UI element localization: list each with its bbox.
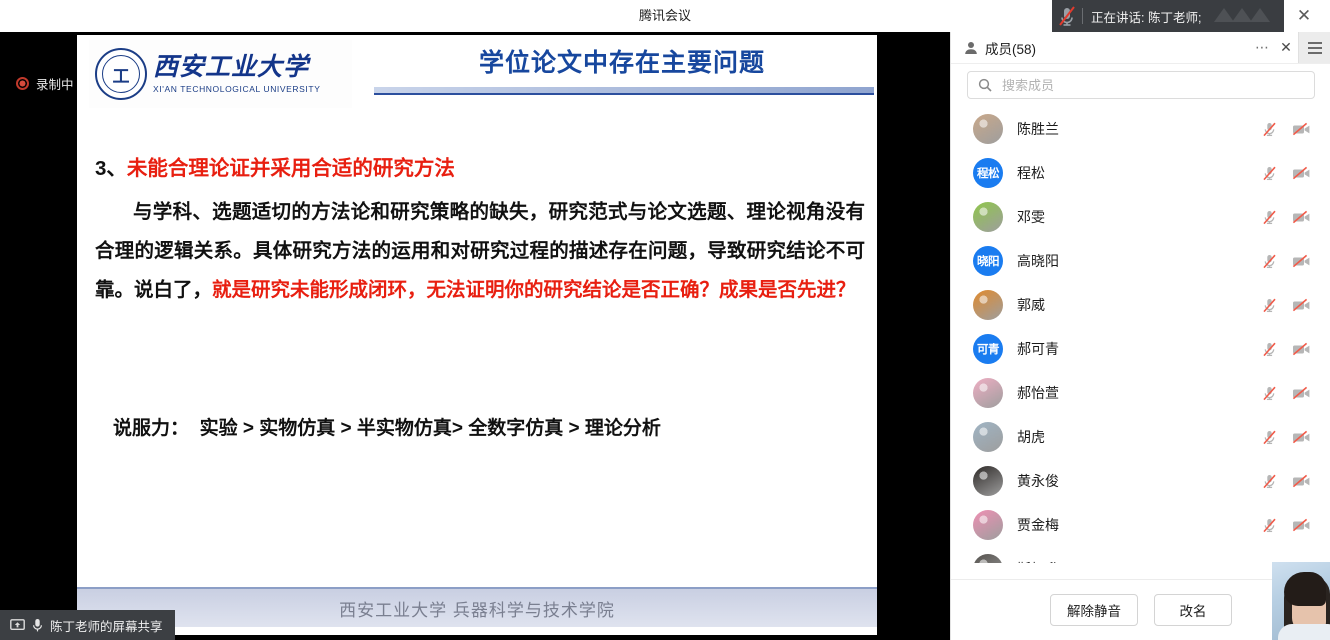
screen-share-label: 陈丁老师的屏幕共享: [50, 616, 163, 635]
screen-share-tag: 陈丁老师的屏幕共享: [0, 610, 175, 640]
avatar: 可青: [973, 334, 1003, 364]
hamburger-icon[interactable]: [1298, 32, 1330, 63]
chain-text: 实验 > 实物仿真 > 半实物仿真> 全数字仿真 > 理论分析: [200, 418, 661, 439]
participant-row[interactable]: 晓阳高晓阳: [951, 239, 1330, 283]
participant-name: 高晓阳: [1017, 251, 1261, 271]
logo-chinese-name: 西安工业大学: [153, 54, 352, 80]
camera-muted-icon[interactable]: [1292, 385, 1309, 402]
avatar: [973, 510, 1003, 540]
participant-status-icons: [1261, 297, 1330, 314]
camera-muted-icon[interactable]: [1292, 253, 1309, 270]
chain-label: 说服力：: [113, 418, 189, 439]
participant-status-icons: [1261, 121, 1330, 138]
participant-name: 邓雯: [1017, 207, 1261, 227]
university-logo: 工 西安工业大学 XI'AN TECHNOLOGICAL UNIVERSITY: [89, 40, 352, 108]
participant-name: 贾金梅: [1017, 515, 1261, 535]
search-icon: [978, 78, 992, 92]
avatar: [973, 466, 1003, 496]
participant-status-icons: [1261, 473, 1330, 490]
speaker-divider: [1082, 8, 1083, 24]
participant-status-icons: [1261, 517, 1330, 534]
mic-muted-icon[interactable]: [1261, 253, 1278, 270]
camera-muted-icon[interactable]: [1292, 341, 1309, 358]
participants-list[interactable]: 陈胜兰程松程松邓雯晓阳高晓阳郭威可青郝可青郝怡萱胡虎黄永俊贾金梅靳极升: [951, 107, 1330, 563]
mic-muted-icon[interactable]: [1261, 429, 1278, 446]
recording-indicator: 录制中: [16, 73, 74, 93]
self-video-thumbnail[interactable]: [1272, 562, 1330, 640]
active-speaker-bar: 正在讲话: 陈丁老师;: [1052, 0, 1284, 32]
recording-label: 录制中: [36, 74, 74, 93]
rename-button[interactable]: 改名: [1154, 594, 1232, 626]
slide-point-heading: 3、未能合理论证并采用合适的研究方法: [95, 151, 455, 181]
participants-search-wrap: [951, 63, 1330, 107]
camera-muted-icon[interactable]: [1292, 165, 1309, 182]
participant-name: 胡虎: [1017, 427, 1261, 447]
participant-status-icons: [1261, 165, 1330, 182]
slide-title: 学位论文中存在主要问题: [372, 43, 872, 79]
participants-panel: 成员(58) ⋯ ✕ 陈胜兰程松程松邓雯晓阳高晓阳郭威可青郝可青郝怡萱胡虎黄永俊…: [950, 32, 1330, 640]
participant-name: 黄永俊: [1017, 471, 1261, 491]
participant-row[interactable]: 郝怡萱: [951, 371, 1330, 415]
participant-status-icons: [1261, 209, 1330, 226]
point-number: 3、: [95, 157, 127, 180]
mic-icon: [32, 618, 43, 633]
participant-name: 程松: [1017, 163, 1261, 183]
camera-muted-icon[interactable]: [1292, 297, 1309, 314]
meeting-window: 腾讯会议 ✕ 正在讲话: 陈丁老师; 录制中: [0, 0, 1330, 640]
panel-more-button[interactable]: ⋯: [1250, 39, 1274, 56]
slide-header: 工 西安工业大学 XI'AN TECHNOLOGICAL UNIVERSITY …: [77, 35, 877, 110]
mic-muted-icon[interactable]: [1261, 385, 1278, 402]
avatar: 晓阳: [973, 246, 1003, 276]
participants-panel-header: 成员(58) ⋯ ✕: [951, 32, 1330, 64]
participants-count-label: 成员(58): [985, 38, 1036, 58]
self-video-shoulder: [1278, 624, 1330, 640]
logo-text: 西安工业大学 XI'AN TECHNOLOGICAL UNIVERSITY: [153, 54, 352, 93]
camera-muted-icon[interactable]: [1292, 121, 1309, 138]
participant-status-icons: [1261, 429, 1330, 446]
participant-row[interactable]: 可青郝可青: [951, 327, 1330, 371]
unmute-button[interactable]: 解除静音: [1050, 594, 1138, 626]
self-video-hair: [1284, 572, 1326, 606]
participant-name: 郭威: [1017, 295, 1261, 315]
participant-status-icons: [1261, 385, 1330, 402]
participant-row[interactable]: 陈胜兰: [951, 107, 1330, 151]
slide-persuasiveness-chain: 说服力： 实验 > 实物仿真 > 半实物仿真> 全数字仿真 > 理论分析: [113, 413, 661, 440]
avatar: [973, 290, 1003, 320]
avatar: 程松: [973, 158, 1003, 188]
participant-row[interactable]: 黄永俊: [951, 459, 1330, 503]
mic-muted-icon[interactable]: [1261, 517, 1278, 534]
camera-muted-icon[interactable]: [1292, 473, 1309, 490]
participant-name: 陈胜兰: [1017, 119, 1261, 139]
slide-body: 3、未能合理论证并采用合适的研究方法 与学科、选题适切的方法论和研究策略的缺失，…: [77, 113, 877, 583]
avatar: [973, 422, 1003, 452]
slide-paragraph: 与学科、选题适切的方法论和研究策略的缺失，研究范式与论文选题、理论视角没有合理的…: [95, 193, 865, 310]
mic-muted-icon[interactable]: [1261, 341, 1278, 358]
participant-row[interactable]: 胡虎: [951, 415, 1330, 459]
person-icon: [964, 41, 978, 55]
title-rule-thin: [374, 93, 874, 95]
slide-footer: 西安工业大学 兵器科学与技术学院: [77, 587, 877, 627]
participant-row[interactable]: 程松程松: [951, 151, 1330, 195]
paragraph-highlight-text: 就是研究未能形成闭环，无法证明你的研究结论是否正确？成果是否先进？: [212, 279, 856, 301]
screen-share-icon: [10, 619, 25, 632]
record-dot-icon: [16, 77, 29, 90]
panel-close-button[interactable]: ✕: [1274, 39, 1298, 56]
university-seal-icon: 工: [95, 48, 147, 100]
mic-muted-icon[interactable]: [1261, 473, 1278, 490]
search-box[interactable]: [967, 71, 1315, 99]
avatar: [973, 378, 1003, 408]
avatar: [973, 554, 1003, 563]
slide-footer-label: 西安工业大学 兵器科学与技术学院: [339, 596, 615, 621]
mic-muted-icon[interactable]: [1261, 209, 1278, 226]
mic-muted-icon: [1052, 0, 1082, 32]
avatar: [973, 202, 1003, 232]
camera-muted-icon[interactable]: [1292, 209, 1309, 226]
participant-row[interactable]: 贾金梅: [951, 503, 1330, 547]
point-title: 未能合理论证并采用合适的研究方法: [127, 157, 455, 180]
participant-status-icons: [1261, 253, 1330, 270]
participant-name: 郝可青: [1017, 339, 1261, 359]
mic-muted-icon[interactable]: [1261, 121, 1278, 138]
participants-title-wrap: 成员(58): [951, 38, 1250, 58]
logo-english-name: XI'AN TECHNOLOGICAL UNIVERSITY: [153, 84, 352, 94]
window-close-button[interactable]: ✕: [1284, 0, 1324, 31]
participant-row[interactable]: 靳极升: [951, 547, 1330, 563]
presentation-slide: 工 西安工业大学 XI'AN TECHNOLOGICAL UNIVERSITY …: [77, 35, 877, 635]
camera-muted-icon[interactable]: [1292, 517, 1309, 534]
participant-name: 郝怡萱: [1017, 383, 1261, 403]
avatar: [973, 114, 1003, 144]
mic-muted-icon[interactable]: [1261, 297, 1278, 314]
participant-name: 靳极升: [1017, 559, 1261, 563]
mic-muted-icon[interactable]: [1261, 165, 1278, 182]
audio-wave-icon: [1212, 4, 1278, 28]
search-input[interactable]: [1000, 77, 1304, 94]
camera-muted-icon[interactable]: [1292, 429, 1309, 446]
participant-row[interactable]: 郭威: [951, 283, 1330, 327]
seal-glyph: 工: [97, 50, 145, 98]
participant-row[interactable]: 邓雯: [951, 195, 1330, 239]
participant-status-icons: [1261, 341, 1330, 358]
shared-screen-stage: 录制中 工 西安工业大学 XI'AN TECHNOLOGICAL UNIVERS…: [0, 32, 950, 640]
